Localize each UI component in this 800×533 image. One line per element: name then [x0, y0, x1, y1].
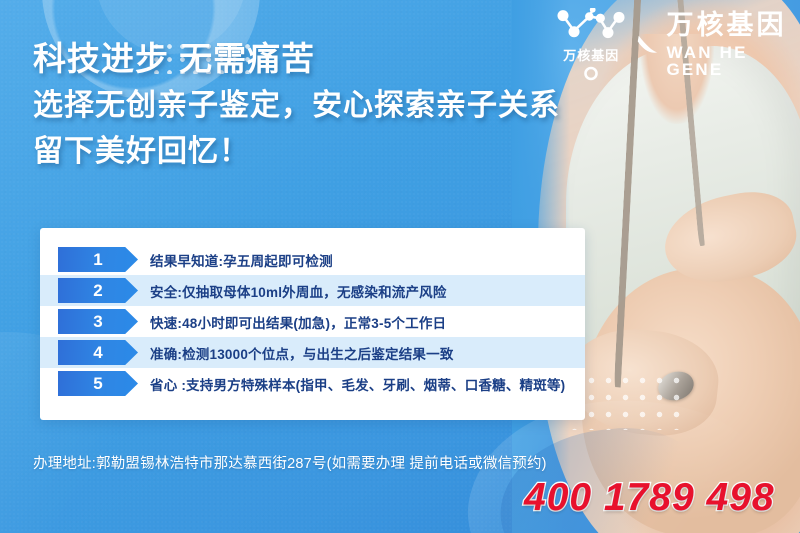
office-address: 办理地址:郭勒盟锡林浩特市那达慕西街287号(如需要办理 提前电话或微信预约): [33, 452, 547, 473]
feature-row: 2 安全:仅抽取母体10ml外周血，无感染和流产风险: [40, 275, 585, 306]
feature-row: 1 结果早知道:孕五周起即可检测: [40, 244, 585, 275]
brand-logo: 万核基因 万核基因 WAN HE GENE: [548, 8, 800, 82]
headline-line-1: 科技进步 无需痛苦: [33, 38, 560, 80]
logo-name-cn: 万核基因: [666, 12, 800, 39]
logo-swoosh-icon: [635, 15, 659, 75]
feature-number-badge: 1: [58, 247, 138, 272]
feature-number-badge: 3: [58, 309, 138, 334]
feature-number-badge: 4: [58, 340, 138, 365]
feature-number-badge: 5: [58, 371, 138, 396]
feature-row: 4 准确:检测13000个位点，与出生之后鉴定结果一致: [40, 337, 585, 368]
hotline-phone-number[interactable]: 400 1789 498: [524, 476, 775, 520]
feature-text: 快速:48小时即可出结果(加急)，正常3-5个工作日: [150, 312, 446, 332]
feature-row: 5 省心 :支持男方特殊样本(指甲、毛发、牙刷、烟蒂、口香糖、精斑等): [40, 368, 585, 399]
feature-row: 3 快速:48小时即可出结果(加急)，正常3-5个工作日: [40, 306, 585, 337]
feature-text: 结果早知道:孕五周起即可检测: [150, 250, 333, 270]
logo-mark-label: 万核基因: [563, 45, 619, 64]
logo-wordmark: 万核基因 WAN HE GENE: [664, 12, 800, 78]
logo-name-en: WAN HE GENE: [666, 44, 800, 78]
feature-text: 准确:检测13000个位点，与出生之后鉴定结果一致: [150, 343, 454, 363]
headline-block: 科技进步 无需痛苦 选择无创亲子鉴定，安心探索亲子关系 留下美好回忆！: [33, 38, 560, 171]
headline-line-2: 选择无创亲子鉴定，安心探索亲子关系: [33, 87, 560, 125]
feature-text: 安全:仅抽取母体10ml外周血，无感染和流产风险: [150, 281, 447, 301]
feature-text: 省心 :支持男方特殊样本(指甲、毛发、牙刷、烟蒂、口香糖、精斑等): [150, 374, 565, 394]
headline-line-3: 留下美好回忆！: [33, 133, 560, 171]
promo-banner: 万核基因 万核基因 WAN HE GENE 科技进步 无需痛苦 选择无创亲子鉴定…: [0, 0, 800, 533]
molecule-node-icon: 万核基因: [548, 8, 635, 82]
feature-list-card: 1 结果早知道:孕五周起即可检测 2 安全:仅抽取母体10ml外周血，无感染和流…: [40, 228, 585, 420]
feature-number-badge: 2: [58, 278, 138, 303]
